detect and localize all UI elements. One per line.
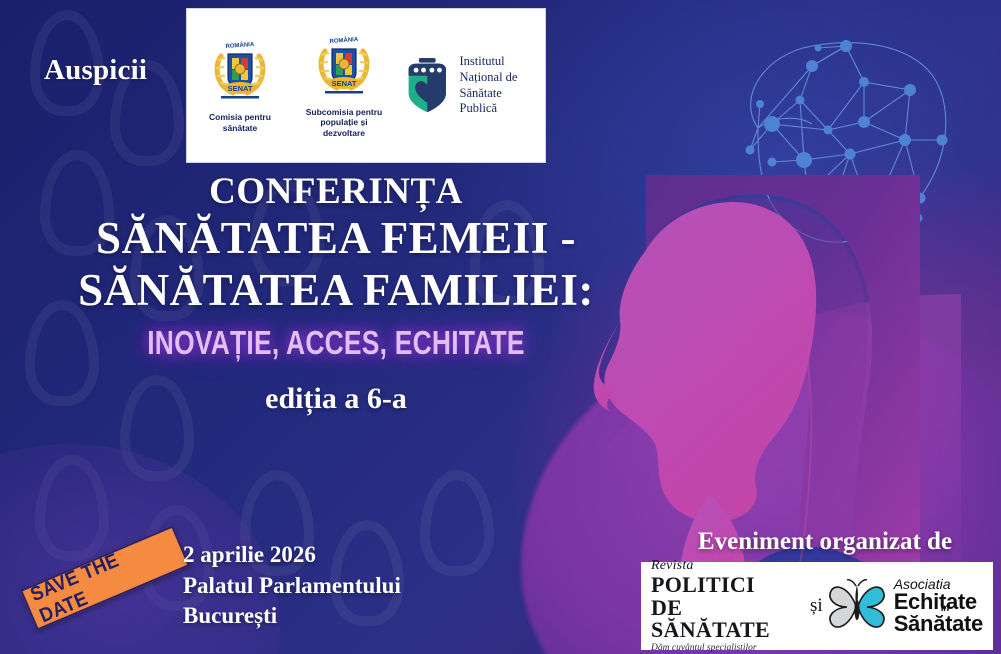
organizers-logo-panel: Revista POLITICI DE SĂNĂTATE Dăm cuvântu… (641, 562, 993, 650)
insp-line1: Institutul (460, 54, 537, 70)
svg-text:SENAT: SENAT (332, 79, 357, 88)
romania-senate-coat-of-arms-icon: ROMÂNIA SENAT (315, 33, 373, 99)
aes-connector: în (941, 604, 949, 614)
title-subtitle: INOVAȚIE, ACCES, ECHITATE (67, 324, 605, 362)
title-line-3: SĂNĂTATEA FAMILIEI: (0, 264, 672, 316)
title-block: CONFERINȚA SĂNĂTATEA FEMEII - SĂNĂTATEA … (0, 172, 672, 416)
svg-text:ROMÂNIA: ROMÂNIA (225, 41, 255, 50)
rps-line3: DE SĂNĂTATE (651, 597, 806, 641)
rps-line1: Revista (651, 559, 806, 573)
romania-senate-coat-of-arms-icon: ROMÂNIA SENAT (211, 38, 269, 104)
senate-caption-line1: Subcomisia pentru (299, 107, 389, 118)
aes-line2: Echitate (894, 591, 983, 613)
svg-text:SENAT: SENAT (228, 84, 253, 93)
rps-line2: POLITICI (651, 574, 806, 596)
event-venue: Palatul Parlamentului (183, 571, 401, 602)
event-date: 2 aprilie 2026 (183, 540, 401, 571)
auspices-logo-panel: ROMÂNIA SENAT Comisia pentru sănătate (186, 8, 546, 163)
senate-logo-subcomisia: ROMÂNIA SENAT Subcomisia pentru populați… (299, 33, 389, 139)
insp-line3: Sănătate Publică (460, 86, 537, 117)
aes-line3-text: Sănătate (894, 611, 983, 636)
senate-caption-line1: Comisia pentru (195, 112, 285, 123)
organizers-heading: Eveniment organizat de (655, 528, 995, 556)
senate-logo-comisia: ROMÂNIA SENAT Comisia pentru sănătate (195, 38, 285, 133)
organizers-conjunction: și (806, 595, 827, 617)
senate-caption-line2: sănătate (195, 123, 285, 134)
asociatia-echitate-in-sanatate-logo: Asociatia Echitate în Sănătate (827, 577, 983, 635)
insp-shield-heart-icon (403, 54, 452, 118)
svg-text:ROMÂNIA: ROMÂNIA (329, 36, 359, 45)
title-line-2: SĂNĂTATEA FEMEII - (0, 212, 672, 264)
event-city: București (183, 601, 401, 632)
rps-tagline: Dăm cuvântul specialiștilor (651, 644, 806, 654)
senate-caption-line2: populație și dezvoltare (299, 117, 389, 138)
senate-caption: Comisia pentru sănătate (195, 112, 285, 133)
title-line-1: CONFERINȚA (0, 172, 672, 212)
insp-line2: Național de (460, 70, 537, 86)
aes-name: Asociatia Echitate în Sănătate (894, 578, 983, 635)
revista-politici-de-sanatate-logo: Revista POLITICI DE SĂNĂTATE Dăm cuvântu… (651, 559, 806, 654)
senate-caption: Subcomisia pentru populație și dezvoltar… (299, 107, 389, 139)
edition-label: ediția a 6-a (0, 382, 672, 416)
auspices-label: Auspicii (44, 54, 147, 87)
insp-name: Institutul Național de Sănătate Publică (460, 54, 537, 117)
conference-poster: Auspicii ROMÂNIA SENAT Comisia pen (0, 0, 1001, 654)
butterfly-icon (827, 577, 889, 635)
aes-line3: în Sănătate (894, 613, 983, 635)
event-details: 2 aprilie 2026 Palatul Parlamentului Buc… (183, 540, 401, 632)
insp-logo: Institutul Național de Sănătate Publică (403, 54, 537, 118)
